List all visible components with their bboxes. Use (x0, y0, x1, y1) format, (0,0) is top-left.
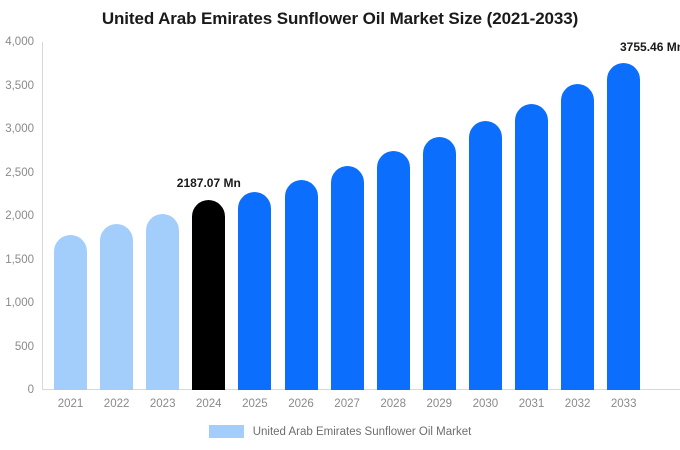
bar-value-label-2024: 2187.07 Mn (177, 176, 241, 190)
bar-2033[interactable] (607, 63, 640, 390)
bar-2021[interactable] (54, 235, 87, 390)
bar-2023[interactable] (146, 214, 179, 390)
legend-swatch-icon (209, 425, 244, 438)
chart-legend: United Arab Emirates Sunflower Oil Marke… (0, 425, 680, 438)
y-axis-tick-label: 4,000 (5, 36, 42, 48)
bar-2030[interactable] (469, 121, 502, 390)
x-axis-tick-label-2028: 2028 (380, 398, 406, 410)
bar-slot-2030[interactable]: 2030 (469, 42, 502, 390)
bar-slot-2029[interactable]: 2029 (423, 42, 456, 390)
y-axis-tick-label: 500 (15, 341, 42, 353)
bar-chart: United Arab Emirates Sunflower Oil Marke… (0, 0, 680, 450)
x-axis-tick-label-2021: 2021 (58, 398, 84, 410)
x-axis-tick-label-2027: 2027 (334, 398, 360, 410)
y-axis-tick-label: 2,500 (5, 167, 42, 179)
x-axis-tick-label-2022: 2022 (104, 398, 130, 410)
bar-slot-2032[interactable]: 2032 (561, 42, 594, 390)
bar-slot-2026[interactable]: 2026 (285, 42, 318, 390)
x-axis-tick-label-2033: 2033 (611, 398, 637, 410)
x-axis-tick-label-2029: 2029 (427, 398, 453, 410)
bar-slot-2028[interactable]: 2028 (377, 42, 410, 390)
y-axis-tick-label: 0 (28, 384, 42, 396)
x-axis-tick-label-2026: 2026 (288, 398, 314, 410)
bar-2026[interactable] (285, 180, 318, 390)
x-axis-tick-label-2024: 2024 (196, 398, 222, 410)
x-axis-tick-label-2032: 2032 (565, 398, 591, 410)
x-axis-tick-label-2025: 2025 (242, 398, 268, 410)
bar-slot-2025[interactable]: 2025 (238, 42, 271, 390)
bar-slot-2024[interactable]: 20242187.07 Mn (192, 42, 225, 390)
x-axis-tick-label-2023: 2023 (150, 398, 176, 410)
bar-2032[interactable] (561, 84, 594, 390)
y-axis-tick-label: 1,500 (5, 254, 42, 266)
bar-2031[interactable] (515, 104, 548, 390)
chart-title: United Arab Emirates Sunflower Oil Marke… (0, 9, 680, 29)
y-axis-tick-label: 3,500 (5, 80, 42, 92)
x-axis-tick-label-2031: 2031 (519, 398, 545, 410)
y-axis-tick-label: 3,000 (5, 123, 42, 135)
bar-2027[interactable] (331, 166, 364, 390)
bar-2029[interactable] (423, 137, 456, 390)
bar-value-label-2033: 3755.46 Mn (620, 40, 680, 54)
bar-slot-2022[interactable]: 2022 (100, 42, 133, 390)
y-axis-tick-label: 1,000 (5, 297, 42, 309)
bar-2022[interactable] (100, 224, 133, 390)
x-axis-tick-label-2030: 2030 (473, 398, 499, 410)
bar-slot-2031[interactable]: 2031 (515, 42, 548, 390)
bar-2024[interactable] (192, 200, 225, 390)
bar-2028[interactable] (377, 151, 410, 390)
legend-label: United Arab Emirates Sunflower Oil Marke… (253, 426, 472, 438)
bar-slot-2033[interactable]: 2033 (607, 42, 640, 390)
bar-slot-2027[interactable]: 2027 (331, 42, 364, 390)
y-axis-tick-label: 2,000 (5, 210, 42, 222)
bar-slot-2023[interactable]: 2023 (146, 42, 179, 390)
bar-2025[interactable] (238, 192, 271, 390)
plot-area: 4,0003,5003,0002,5002,0001,5001,00050002… (42, 42, 680, 390)
bar-slot-2021[interactable]: 2021 (54, 42, 87, 390)
